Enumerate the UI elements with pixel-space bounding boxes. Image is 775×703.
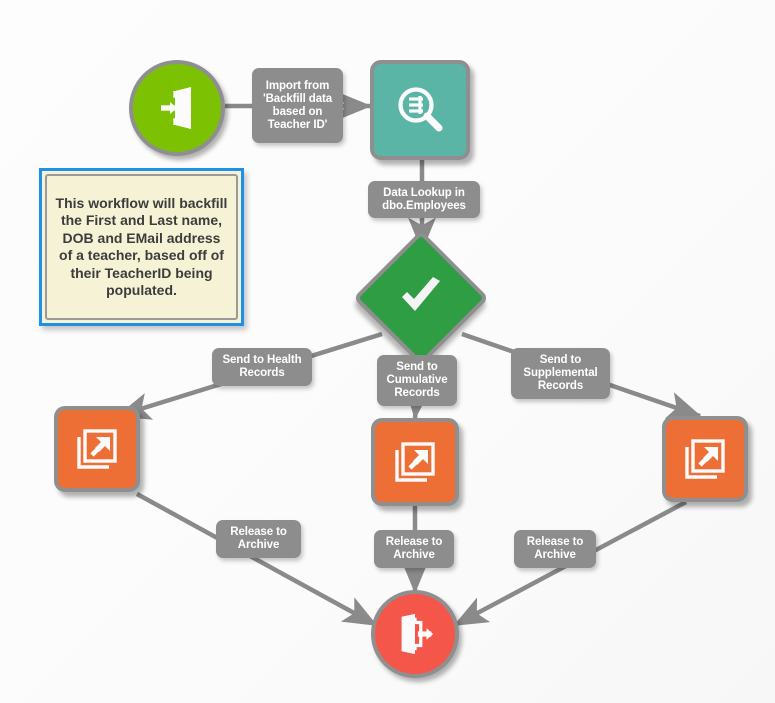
node-cumulative-records-action[interactable]: [371, 418, 459, 506]
send-export-icon: [680, 434, 730, 484]
node-start[interactable]: [129, 60, 225, 156]
send-export-icon: [72, 424, 122, 474]
workflow-description-note[interactable]: This workflow will backfill the First an…: [39, 168, 244, 326]
node-end[interactable]: [371, 590, 459, 678]
edge-label-release-to-archive-health[interactable]: Release to Archive: [216, 520, 301, 558]
edge-label-send-to-cumulative-records[interactable]: Send to Cumulative Records: [377, 355, 457, 406]
door-enter-icon: [153, 84, 201, 132]
node-health-records-action[interactable]: [54, 406, 140, 492]
edge-label-release-to-archive-cumulative[interactable]: Release to Archive: [374, 530, 454, 568]
note-text: This workflow will backfill the First an…: [45, 174, 238, 320]
check-mark-icon: [392, 269, 450, 327]
door-exit-icon: [392, 611, 438, 657]
edge-label-release-to-archive-supplemental[interactable]: Release to Archive: [514, 530, 596, 568]
edge-label-send-to-supplemental-records[interactable]: Send to Supplemental Records: [511, 348, 610, 399]
edge-label-send-to-health-records[interactable]: Send to Health Records: [212, 348, 312, 386]
connector-health-to-end: [137, 494, 376, 625]
workflow-diagram-canvas: This workflow will backfill the First an…: [0, 0, 775, 703]
edge-label-import-from-backfill[interactable]: Import from 'Backfill data based on Teac…: [252, 68, 343, 143]
data-lookup-icon: [392, 82, 448, 138]
send-export-icon: [390, 437, 440, 487]
edge-label-data-lookup[interactable]: Data Lookup in dbo.Employees: [368, 181, 480, 218]
node-data-lookup[interactable]: [370, 60, 470, 160]
node-supplemental-records-action[interactable]: [662, 416, 748, 502]
